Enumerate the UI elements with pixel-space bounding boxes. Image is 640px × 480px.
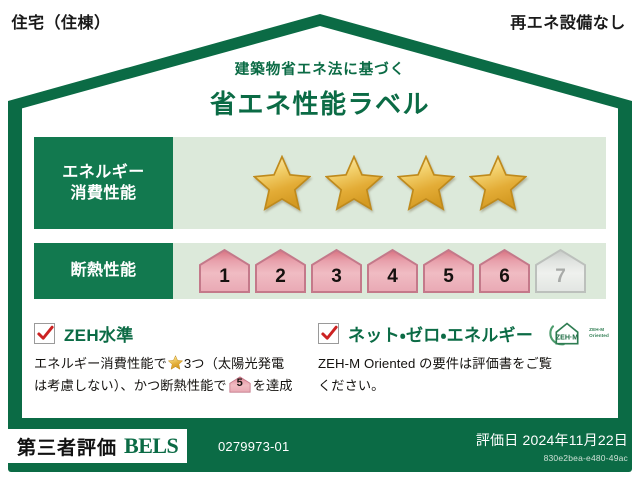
insulation-rating-area: 1234567 xyxy=(173,243,606,299)
criteria-section: ZEH水準 エネルギー消費性能で 3つ（太陽光発電 は考慮しない）、かつ断熱性能… xyxy=(0,320,640,418)
check-icon xyxy=(36,324,55,343)
zeh-desc-part2: 3つ（太陽光発電 xyxy=(184,356,284,371)
renewable-energy-tag: 再エネ設備なし xyxy=(496,6,640,36)
insulation-level-block: 1 xyxy=(198,248,251,294)
evaluation-date: 評価日 2024年11月22日 xyxy=(476,430,628,450)
insulation-level-block: 2 xyxy=(254,248,307,294)
insulation-level-block: 6 xyxy=(478,248,531,294)
nze-desc-line2: ください。 xyxy=(318,378,384,393)
zeh-desc-part4: を達成 xyxy=(253,378,293,393)
third-party-evaluation-label: 第三者評価 xyxy=(17,433,117,460)
insulation-label-line1: 断熱性能 xyxy=(70,260,136,281)
zeh-m-side-line1: ZEH-M xyxy=(589,327,604,332)
zeh-desc-part1: エネルギー消費性能で xyxy=(34,356,167,371)
bels-certification-plate: 第三者評価 BELS xyxy=(8,429,187,463)
zeh-m-logo-text: ZEH·M xyxy=(556,334,579,342)
check-icon xyxy=(320,324,339,343)
net-zero-energy-description: ZEH-M Oriented の要件は評価書をご覧 ください。 xyxy=(318,353,610,397)
zeh-standard-description: エネルギー消費性能で 3つ（太陽光発電 は考慮しない）、かつ断熱性能で 5 を達… xyxy=(34,353,310,397)
nze-desc-line1: ZEH-M Oriented の要件は評価書をご覧 xyxy=(318,356,552,371)
energy-performance-label: 住宅（住棟） 再エネ設備なし 建築物省エネ法に基づく 省エネ性能ラベル エネルギ… xyxy=(0,0,640,480)
evaluation-hash: 830e2bea-e480-49ac xyxy=(476,453,628,463)
insulation-level-number: 4 xyxy=(387,267,398,294)
inline-house-badge: 5 xyxy=(229,376,251,393)
bels-logo-text: BELS xyxy=(124,433,178,459)
net-zero-energy-checkbox[interactable] xyxy=(318,323,339,344)
evaluation-info: 評価日 2024年11月22日 830e2bea-e480-49ac xyxy=(476,430,628,463)
insulation-level-number: 2 xyxy=(275,267,286,294)
insulation-level-block: 4 xyxy=(366,248,419,294)
bels-certificate-number: 0279973-01 xyxy=(218,439,289,454)
energy-star-rating xyxy=(173,137,606,229)
star-icon xyxy=(469,155,527,211)
insulation-level-block: 7 xyxy=(534,248,587,294)
insulation-level-number: 5 xyxy=(443,267,454,294)
energy-performance-row: エネルギー 消費性能 xyxy=(34,137,606,229)
inline-star-icon xyxy=(168,355,183,370)
inline-house-number: 5 xyxy=(229,376,251,393)
energy-performance-label: エネルギー 消費性能 xyxy=(34,137,173,229)
footer-bar: 第三者評価 BELS 0279973-01 評価日 2024年11月22日 83… xyxy=(0,422,640,480)
insulation-level-number: 6 xyxy=(499,267,510,294)
insulation-house-blocks: 1234567 xyxy=(198,248,587,294)
zeh-standard-header: ZEH水準 xyxy=(34,320,310,346)
zeh-m-side-line2: Oriented xyxy=(589,333,609,338)
label-title-block: 建築物省エネ法に基づく 省エネ性能ラベル xyxy=(0,58,640,121)
insulation-level-block: 3 xyxy=(310,248,363,294)
building-type-tag: 住宅（住棟） xyxy=(0,6,122,36)
zeh-m-logo-side-text: ZEH-M Oriented xyxy=(589,327,609,339)
insulation-performance-label: 断熱性能 xyxy=(34,243,173,299)
star-icon xyxy=(253,155,311,211)
insulation-level-number: 1 xyxy=(219,267,230,294)
title-subtitle: 建築物省エネ法に基づく xyxy=(0,58,640,79)
star-icon xyxy=(325,155,383,211)
zeh-standard-title: ZEH水準 xyxy=(64,321,134,346)
net-zero-energy-header: ネット・ゼロ・エネルギー ZEH·M ZEH-M Oriented xyxy=(318,320,610,346)
zeh-m-logo: ZEH·M ZEH-M Oriented xyxy=(548,319,609,347)
energy-label-line1: エネルギー xyxy=(62,162,145,183)
zeh-standard-checkbox[interactable] xyxy=(34,323,55,344)
criteria-zeh-standard: ZEH水準 エネルギー消費性能で 3つ（太陽光発電 は考慮しない）、かつ断熱性能… xyxy=(0,320,310,418)
insulation-level-block: 5 xyxy=(422,248,475,294)
net-zero-energy-title: ネット・ゼロ・エネルギー xyxy=(348,321,533,346)
star-icon xyxy=(397,155,455,211)
zeh-desc-part3: は考慮しない）、かつ断熱性能で xyxy=(34,378,227,393)
insulation-performance-row: 断熱性能 1234567 xyxy=(34,243,606,299)
energy-label-line2: 消費性能 xyxy=(70,183,136,204)
zeh-m-house-icon: ZEH·M xyxy=(548,319,586,347)
insulation-level-number: 3 xyxy=(331,267,342,294)
insulation-level-number: 7 xyxy=(555,267,566,294)
page-title: 省エネ性能ラベル xyxy=(0,84,640,121)
criteria-net-zero-energy: ネット・ゼロ・エネルギー ZEH·M ZEH-M Oriented ZEH-M … xyxy=(310,320,610,418)
